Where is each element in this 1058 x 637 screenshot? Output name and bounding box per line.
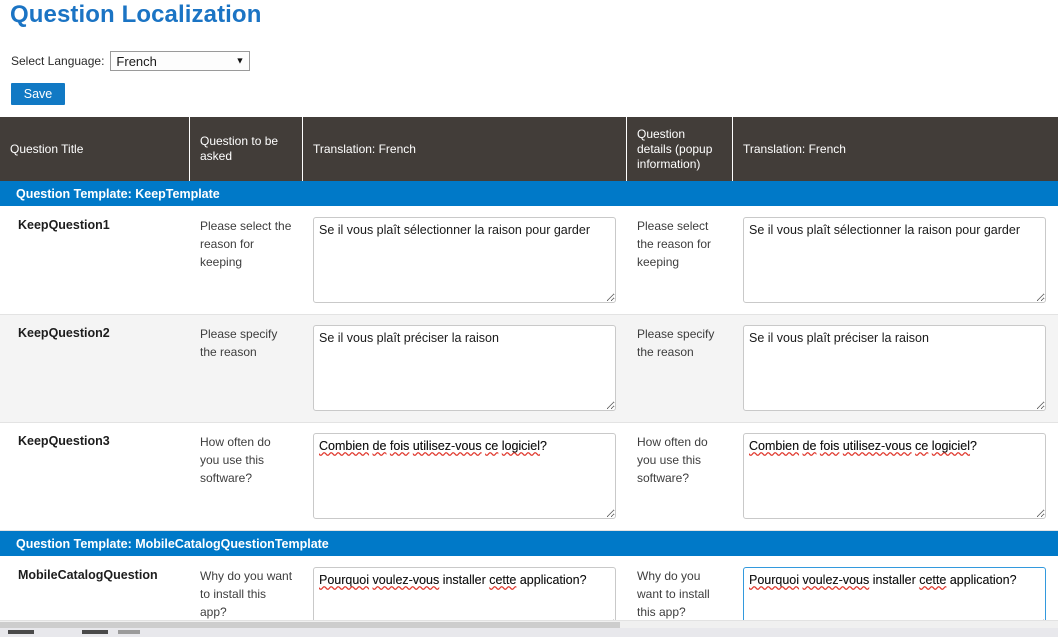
language-select-value: French [116, 54, 156, 69]
cell-question-text: How often do you use this software? [190, 423, 303, 530]
cell-details-translation [733, 207, 1058, 314]
cell-question-details: Please specify the reason [627, 315, 733, 422]
column-header-question-to-be-asked: Question to be asked [190, 117, 303, 181]
taskbar-sliver [0, 628, 1058, 637]
table-row: KeepQuestion3 How often do you use this … [0, 423, 1058, 531]
taskbar-icon[interactable] [118, 630, 140, 634]
cell-question-title: KeepQuestion1 [0, 207, 190, 314]
taskbar-icon[interactable] [82, 630, 108, 634]
cell-translation: Combien de fois utilisez-vous ce logicie… [303, 423, 627, 530]
taskbar-icon[interactable] [8, 630, 34, 634]
horizontal-scrollbar[interactable] [0, 620, 1058, 628]
cell-question-details: Please select the reason for keeping [627, 207, 733, 314]
cell-question-details: How often do you use this software? [627, 423, 733, 530]
group-header-keeptemplate: Question Template: KeepTemplate [0, 181, 1058, 207]
translation-field-wrapper: Combien de fois utilisez-vous ce logicie… [313, 433, 616, 524]
table-row: KeepQuestion2 Please specify the reason … [0, 315, 1058, 423]
column-header-question-details: Question details (popup information) [627, 117, 733, 181]
group-header-mobilecatalogquestiontemplate: Question Template: MobileCatalogQuestion… [0, 531, 1058, 557]
page-root: Question Localization Select Language: F… [0, 0, 1058, 637]
translation-textarea[interactable] [313, 433, 616, 519]
cell-question-text: Please select the reason for keeping [190, 207, 303, 314]
column-header-translation-french: Translation: French [303, 117, 627, 181]
page-title: Question Localization [10, 0, 261, 30]
details-translation-field-wrapper: Combien de fois utilisez-vous ce logicie… [743, 433, 1046, 524]
cell-translation [303, 315, 627, 422]
table-row: KeepQuestion1 Please select the reason f… [0, 207, 1058, 315]
language-select[interactable]: French ▼ [110, 51, 250, 71]
column-header-question-title: Question Title [0, 117, 190, 181]
cell-translation [303, 207, 627, 314]
cell-details-translation [733, 315, 1058, 422]
cell-question-title: KeepQuestion3 [0, 423, 190, 530]
language-label: Select Language: [11, 54, 104, 68]
translation-textarea[interactable] [313, 325, 616, 411]
save-button[interactable]: Save [11, 83, 65, 105]
table-header-row: Question Title Question to be asked Tran… [0, 117, 1058, 181]
language-selector-row: Select Language: French ▼ [11, 51, 250, 71]
column-header-translation-french-details: Translation: French [733, 117, 1058, 181]
cell-question-title: KeepQuestion2 [0, 315, 190, 422]
localization-table: Question Title Question to be asked Tran… [0, 117, 1058, 637]
translation-textarea[interactable] [313, 217, 616, 303]
details-translation-textarea[interactable] [743, 217, 1046, 303]
cell-question-text: Please specify the reason [190, 315, 303, 422]
chevron-down-icon: ▼ [236, 57, 245, 66]
cell-details-translation: Combien de fois utilisez-vous ce logicie… [733, 423, 1058, 530]
details-translation-textarea[interactable] [743, 433, 1046, 519]
details-translation-textarea[interactable] [743, 325, 1046, 411]
